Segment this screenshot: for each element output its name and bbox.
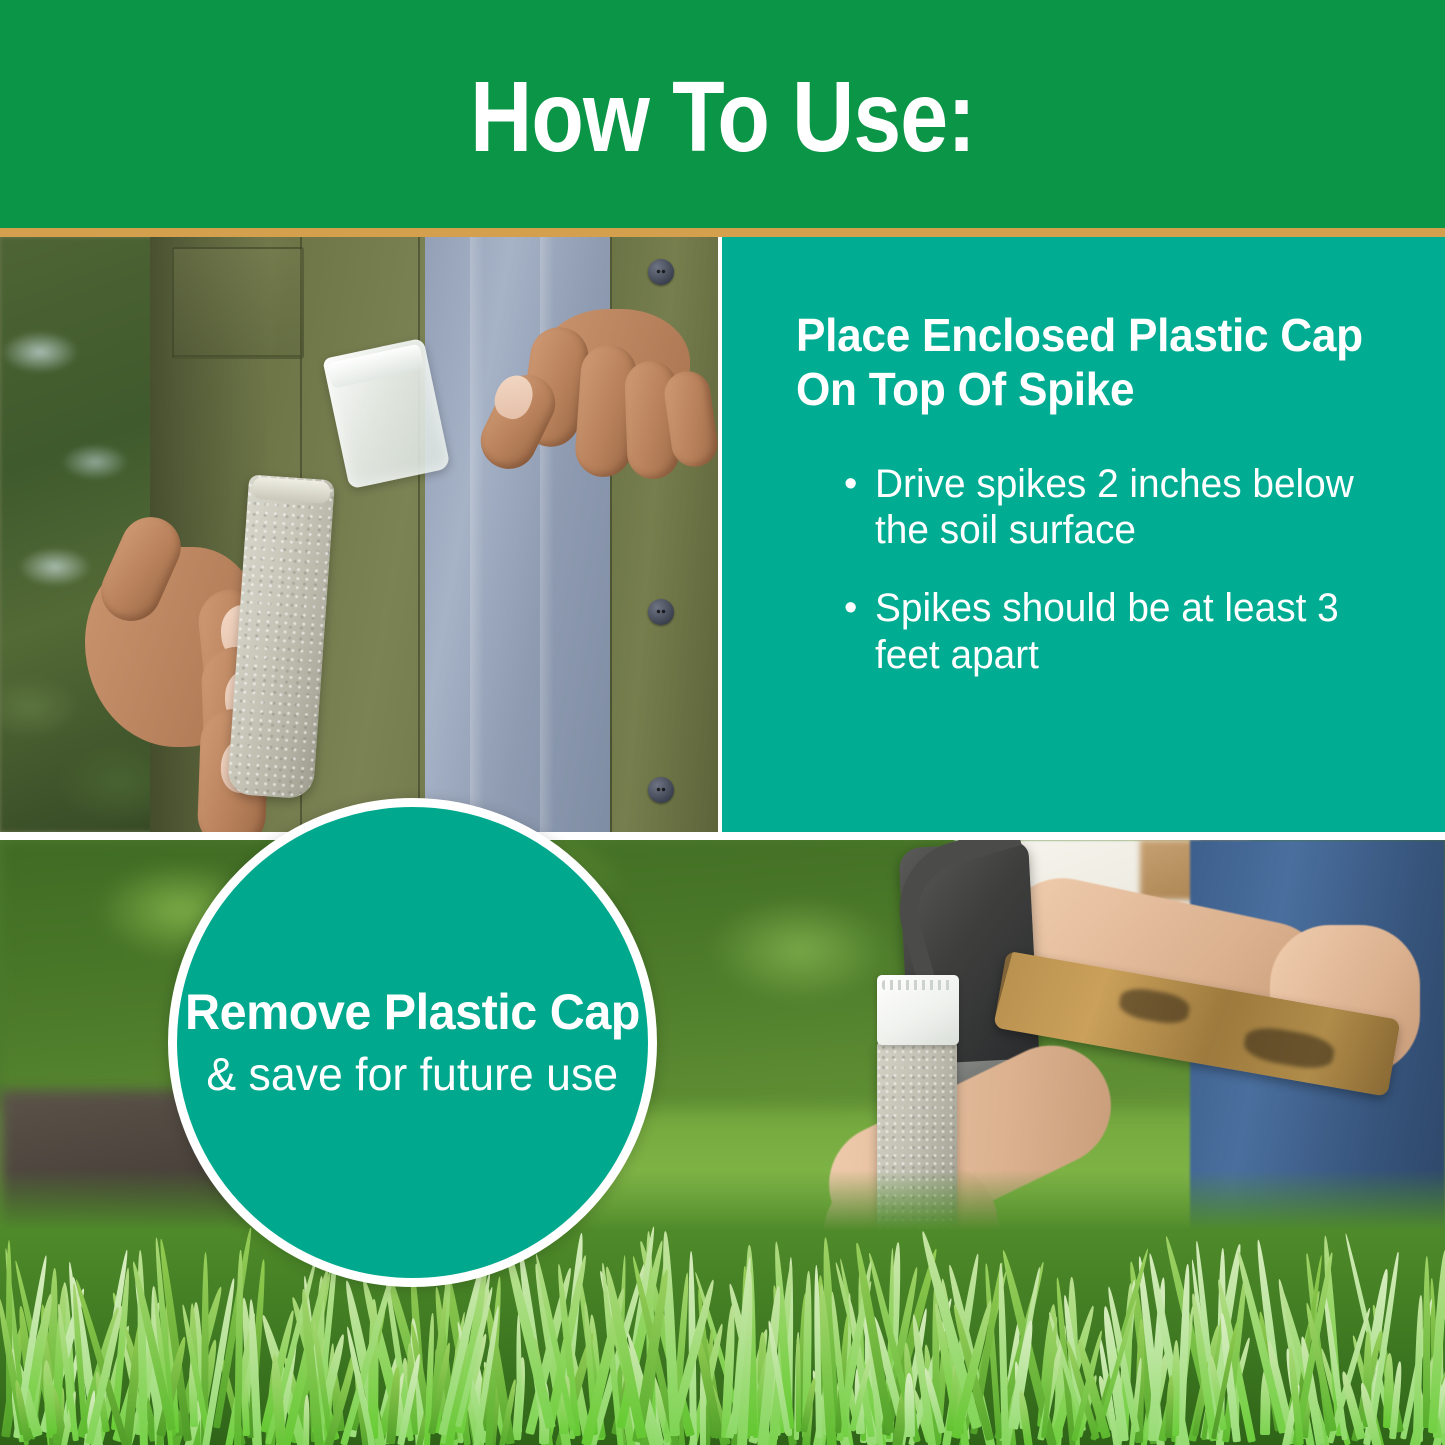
remove-cap-badge: Remove Plastic Cap & save for future use bbox=[168, 798, 657, 1287]
spike-top-face bbox=[252, 477, 331, 504]
grass-blade bbox=[516, 1314, 522, 1433]
grass-blade bbox=[303, 1395, 309, 1445]
handle-stain bbox=[1117, 985, 1191, 1027]
photo-place-cap bbox=[0, 237, 718, 832]
step1-bullet-list: • Drive spikes 2 inches below the soil s… bbox=[796, 461, 1397, 679]
jacket-button bbox=[648, 259, 674, 285]
step1-heading: Place Enclosed Plastic Cap On Top Of Spi… bbox=[796, 309, 1373, 417]
page-title: How To Use: bbox=[470, 67, 975, 167]
how-to-use-infographic: How To Use: bbox=[0, 0, 1445, 1445]
grass-blade bbox=[904, 1373, 915, 1437]
list-item: • Drive spikes 2 inches below the soil s… bbox=[796, 461, 1397, 554]
right-hand-holding-cap bbox=[430, 287, 700, 557]
bullet-dot-icon: • bbox=[844, 462, 857, 506]
jacket-button bbox=[648, 777, 674, 803]
instruction-panel-step1: Place Enclosed Plastic Cap On Top Of Spi… bbox=[722, 237, 1445, 832]
list-item: • Spikes should be at least 3 feet apart bbox=[796, 585, 1397, 678]
page-header: How To Use: bbox=[0, 0, 1445, 228]
badge-subtitle: & save for future use bbox=[207, 1049, 619, 1100]
badge-title: Remove Plastic Cap bbox=[185, 985, 640, 1039]
bullet-text: Spikes should be at least 3 feet apart bbox=[875, 585, 1381, 678]
gold-divider-rule bbox=[0, 228, 1445, 237]
bullet-dot-icon: • bbox=[844, 586, 857, 630]
jacket-pocket-flap bbox=[172, 329, 300, 357]
jacket-button bbox=[648, 599, 674, 625]
bullet-text: Drive spikes 2 inches below the soil sur… bbox=[875, 461, 1381, 554]
panel-gap-horizontal bbox=[0, 832, 1445, 840]
top-row: Place Enclosed Plastic Cap On Top Of Spi… bbox=[0, 237, 1445, 832]
handle-stain bbox=[1242, 1024, 1337, 1073]
panel-gap-vertical bbox=[718, 237, 722, 832]
jacket-seam bbox=[418, 237, 420, 832]
plastic-cap-ridges bbox=[882, 980, 954, 990]
